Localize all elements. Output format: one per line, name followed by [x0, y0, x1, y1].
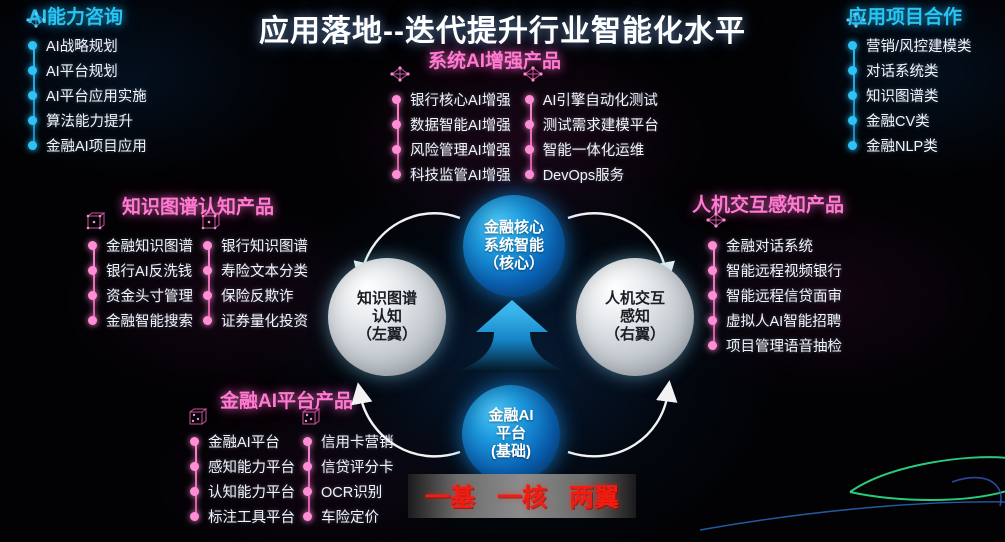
bullet-dot-icon: [848, 91, 857, 100]
list-item[interactable]: 车险定价: [321, 504, 394, 529]
network-node-icon: [23, 11, 49, 33]
list-item[interactable]: 寿险文本分类: [221, 258, 308, 283]
bullet-column: 银行核心AI增强 数据智能AI增强 风险管理AI增强 科技监管AI增强: [392, 87, 511, 187]
group-project-cooperation: 应用项目合作 营销/风控建模类 对话系统类 知识图谱类 金融CV类 金融NLP类: [848, 8, 972, 158]
list-item[interactable]: 智能远程信贷面审: [726, 283, 842, 308]
node-line: （左翼）: [357, 326, 417, 344]
list-item-label: 车险定价: [321, 506, 379, 527]
list-item[interactable]: 金融CV类: [866, 108, 972, 133]
slogan-word: 一核: [497, 478, 547, 514]
group-system-ai-enhancement: 系统AI增强产品 银行核心AI增强 数据智能AI增强 风险管理AI增强 科技监管…: [392, 52, 659, 187]
bullet-dot-icon: [28, 141, 37, 150]
list-item[interactable]: 保险反欺诈: [221, 283, 308, 308]
bullet-dot-icon: [848, 41, 857, 50]
list-item-label: AI战略规划: [46, 35, 118, 56]
bullet-dot-icon: [190, 487, 199, 496]
list-item[interactable]: AI平台规划: [46, 58, 147, 83]
bullet-dot-icon: [525, 145, 534, 154]
network-node-icon: [843, 11, 869, 33]
list-item-label: 银行知识图谱: [221, 235, 308, 256]
node-line: （右翼）: [605, 326, 665, 344]
list-item-label: 银行AI反洗钱: [106, 260, 192, 281]
bullet-dot-icon: [203, 291, 212, 300]
list-item[interactable]: 标注工具平台: [208, 504, 295, 529]
bullet-column: 营销/风控建模类 对话系统类 知识图谱类 金融CV类 金融NLP类: [848, 33, 972, 158]
timeline-spine: [195, 441, 197, 521]
network-node-icon: [520, 65, 546, 87]
bullet-dot-icon: [303, 512, 312, 521]
list-item-label: 金融AI项目应用: [46, 135, 147, 156]
list-item[interactable]: 虚拟人AI智能招聘: [726, 308, 842, 333]
node-base-platform[interactable]: 金融AI 平台 (基础): [462, 385, 560, 483]
list-item[interactable]: 算法能力提升: [46, 108, 147, 133]
neon-decoration: [700, 430, 1005, 542]
list-item-label: AI平台应用实施: [46, 85, 147, 106]
list-item[interactable]: 金融AI项目应用: [46, 133, 147, 158]
list-item-label: 金融AI平台: [208, 431, 280, 452]
bullet-dot-icon: [392, 145, 401, 154]
node-line: 知识图谱: [357, 290, 417, 308]
bullet-dot-icon: [88, 316, 97, 325]
list-item-label: 虚拟人AI智能招聘: [726, 310, 841, 331]
list-item-label: 智能远程视频银行: [726, 260, 842, 281]
node-line: (基础): [491, 443, 531, 461]
timeline-spine: [397, 99, 399, 179]
bullet-dot-icon: [203, 316, 212, 325]
bullet-dot-icon: [525, 95, 534, 104]
list-item-label: AI引擎自动化测试: [543, 89, 658, 110]
list-item[interactable]: 智能远程视频银行: [726, 258, 842, 283]
node-line: 认知: [372, 308, 402, 326]
list-item[interactable]: AI平台应用实施: [46, 83, 147, 108]
list-item-label: 数据智能AI增强: [410, 114, 511, 135]
bullet-dot-icon: [203, 241, 212, 250]
list-item-label: 算法能力提升: [46, 110, 133, 131]
list-item[interactable]: 对话系统类: [866, 58, 972, 83]
slide-canvas: 应用落地--迭代提升行业智能化水平 AI能力咨询 AI战略规划 AI平台规划 A…: [0, 0, 1005, 542]
bullet-dot-icon: [28, 91, 37, 100]
group-knowledge-graph: 知识图谱认知产品 金融知识图谱 银行AI反洗钱 资金头寸管理 金融智能搜索: [88, 198, 308, 333]
timeline-spine: [93, 245, 95, 325]
list-item-label: 智能一体化运维: [543, 139, 645, 160]
list-item-label: 营销/风控建模类: [866, 35, 972, 56]
list-item-label: 证券量化投资: [221, 310, 308, 331]
node-core[interactable]: 金融核心 系统智能 （核心）: [463, 195, 565, 297]
network-node-icon: [387, 65, 413, 87]
cube-graph-icon: [198, 211, 224, 233]
bullet-dot-icon: [392, 170, 401, 179]
list-item[interactable]: 金融知识图谱: [106, 233, 193, 258]
list-item-label: 金融NLP类: [866, 135, 938, 156]
bullet-dot-icon: [88, 241, 97, 250]
bullet-column: 金融对话系统 智能远程视频银行 智能远程信贷面审 虚拟人AI智能招聘 项目管理语…: [708, 233, 842, 358]
bullet-column: 金融知识图谱 银行AI反洗钱 资金头寸管理 金融智能搜索: [88, 233, 193, 333]
timeline-spine: [530, 99, 532, 179]
list-item[interactable]: 证券量化投资: [221, 308, 308, 333]
list-item[interactable]: 感知能力平台: [208, 454, 295, 479]
node-line: 系统智能: [484, 237, 544, 255]
bullet-column: 银行知识图谱 寿险文本分类 保险反欺诈 证券量化投资: [203, 233, 308, 333]
node-left-wing[interactable]: 知识图谱 认知 （左翼）: [328, 258, 446, 376]
bullet-dot-icon: [28, 41, 37, 50]
list-item[interactable]: 测试需求建模平台: [543, 112, 659, 137]
cube-graph-icon: [185, 407, 211, 429]
list-item[interactable]: AI引擎自动化测试: [543, 87, 659, 112]
timeline-spine: [208, 245, 210, 325]
list-item[interactable]: 风险管理AI增强: [410, 137, 511, 162]
list-item[interactable]: 数据智能AI增强: [410, 112, 511, 137]
bullet-dot-icon: [190, 437, 199, 446]
list-item-label: 银行核心AI增强: [410, 89, 511, 110]
node-line: 平台: [496, 425, 526, 443]
list-item[interactable]: 银行AI反洗钱: [106, 258, 193, 283]
list-item-label: 金融对话系统: [726, 235, 813, 256]
list-item-label: 寿险文本分类: [221, 260, 308, 281]
list-item-label: 感知能力平台: [208, 456, 295, 477]
list-item[interactable]: 项目管理语音抽检: [726, 333, 842, 358]
bullet-column: AI引擎自动化测试 测试需求建模平台 智能一体化运维 DevOps服务: [525, 87, 659, 187]
group-ai-consulting: AI能力咨询 AI战略规划 AI平台规划 AI平台应用实施 算法能力提升 金融A…: [28, 8, 147, 158]
list-item-label: 知识图谱类: [866, 85, 939, 106]
bullet-dot-icon: [88, 266, 97, 275]
list-item[interactable]: 银行核心AI增强: [410, 87, 511, 112]
bullet-dot-icon: [28, 66, 37, 75]
bullet-column: AI战略规划 AI平台规划 AI平台应用实施 算法能力提升 金融AI项目应用: [28, 33, 147, 158]
list-item[interactable]: 营销/风控建模类: [866, 33, 972, 58]
bullet-dot-icon: [190, 512, 199, 521]
node-line: 金融AI: [488, 407, 533, 425]
bullet-dot-icon: [203, 266, 212, 275]
list-item[interactable]: 认知能力平台: [208, 479, 295, 504]
bullet-dot-icon: [88, 291, 97, 300]
bullet-dot-icon: [392, 95, 401, 104]
node-right-wing[interactable]: 人机交互 感知 （右翼）: [576, 258, 694, 376]
list-item[interactable]: 银行知识图谱: [221, 233, 308, 258]
bullet-dot-icon: [848, 66, 857, 75]
list-item-label: 保险反欺诈: [221, 285, 294, 306]
slogan-banner: 一基 一核 两翼: [408, 474, 636, 518]
list-item-label: 资金头寸管理: [106, 285, 193, 306]
core-architecture-diagram: 金融核心 系统智能 （核心） 知识图谱 认知 （左翼） 人机交互 感知 （右翼）…: [300, 180, 720, 500]
list-item-label: 认知能力平台: [208, 481, 295, 502]
list-item[interactable]: 金融对话系统: [726, 233, 842, 258]
list-item-label: 对话系统类: [866, 60, 939, 81]
bullet-dot-icon: [525, 170, 534, 179]
bullet-dot-icon: [190, 462, 199, 471]
list-item-label: 项目管理语音抽检: [726, 335, 842, 356]
list-item-label: 智能远程信贷面审: [726, 285, 842, 306]
list-item-label: 金融知识图谱: [106, 235, 193, 256]
node-line: 人机交互: [605, 290, 665, 308]
node-line: 金融核心: [484, 219, 544, 237]
bullet-dot-icon: [392, 120, 401, 129]
list-item[interactable]: 金融NLP类: [866, 133, 972, 158]
list-item-label: AI平台规划: [46, 60, 118, 81]
list-item-label: 风险管理AI增强: [410, 139, 511, 160]
bullet-dot-icon: [848, 141, 857, 150]
list-item-label: 标注工具平台: [208, 506, 295, 527]
upward-arrow-icon: [452, 298, 572, 380]
node-line: 感知: [620, 308, 650, 326]
bullet-dot-icon: [28, 116, 37, 125]
list-item[interactable]: AI战略规划: [46, 33, 147, 58]
list-item[interactable]: 金融智能搜索: [106, 308, 193, 333]
bullet-dot-icon: [525, 120, 534, 129]
list-item[interactable]: 智能一体化运维: [543, 137, 659, 162]
bullet-dot-icon: [848, 116, 857, 125]
list-item-label: 金融智能搜索: [106, 310, 193, 331]
list-item-label: 金融CV类: [866, 110, 930, 131]
list-item-label: 测试需求建模平台: [543, 114, 659, 135]
list-item[interactable]: 知识图谱类: [866, 83, 972, 108]
cube-graph-icon: [83, 211, 109, 233]
node-line: （核心）: [484, 255, 544, 273]
slogan-word: 一基: [425, 478, 475, 514]
list-item[interactable]: 资金头寸管理: [106, 283, 193, 308]
slogan-word: 两翼: [569, 478, 619, 514]
list-item[interactable]: 金融AI平台: [208, 429, 295, 454]
bullet-column: 金融AI平台 感知能力平台 认知能力平台 标注工具平台: [190, 429, 295, 529]
